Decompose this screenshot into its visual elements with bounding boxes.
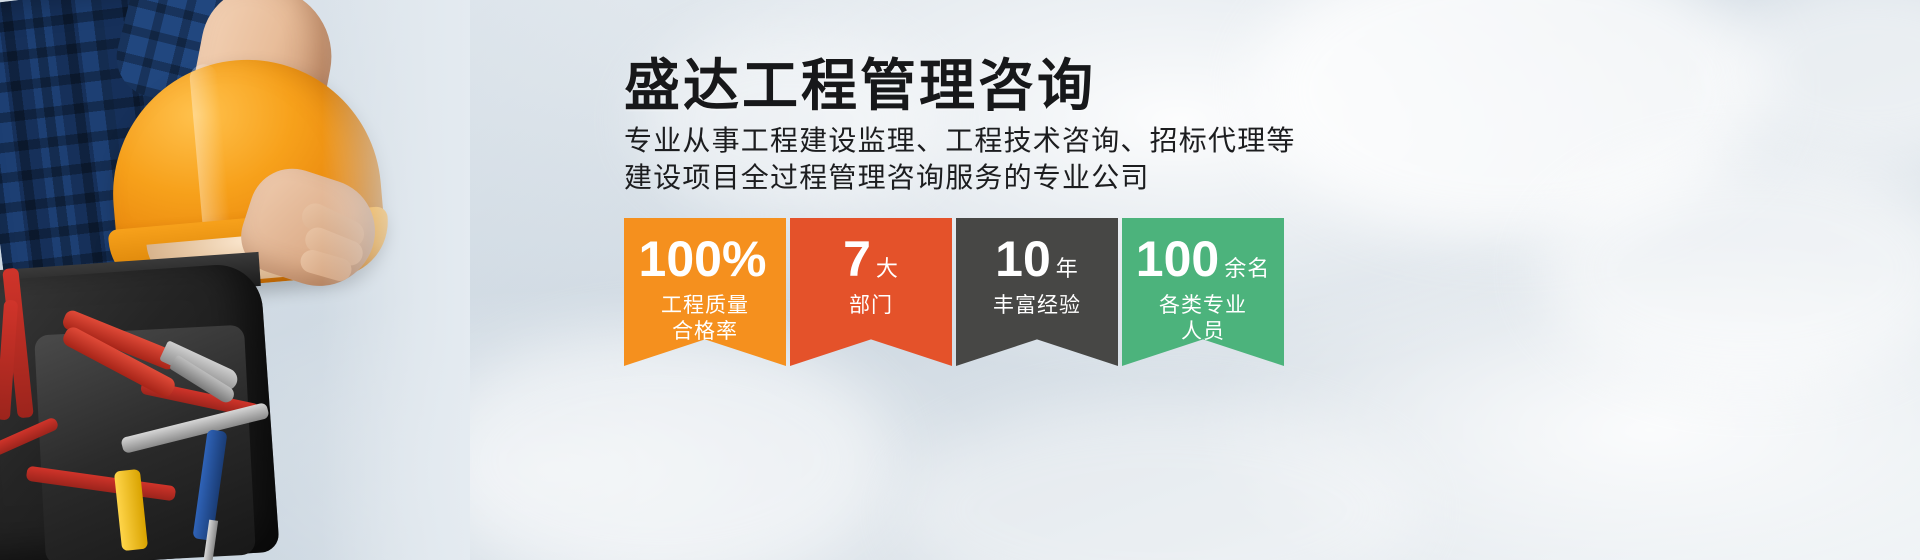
subtitle-line-1: 专业从事工程建设监理、工程技术咨询、招标代理等 xyxy=(624,122,1444,159)
stat-value-wrap: 7 大 xyxy=(843,234,899,284)
worker-photo xyxy=(0,0,470,560)
stat-caption: 各类专业 人员 xyxy=(1159,293,1247,344)
stat-caption-line-1: 部门 xyxy=(849,293,893,319)
stat-caption-line-2: 合格率 xyxy=(661,319,749,345)
stat-value-wrap: 10 年 xyxy=(995,234,1079,284)
stat-value-wrap: 100 余名 xyxy=(1136,234,1270,284)
stat-badge-staff: 100 余名 各类专业 人员 xyxy=(1122,218,1284,366)
stat-value: 7 xyxy=(843,234,871,284)
page-title: 盛达工程管理咨询 xyxy=(624,58,1444,114)
hero-banner: 盛达工程管理咨询 专业从事工程建设监理、工程技术咨询、招标代理等 建设项目全过程… xyxy=(0,0,1920,560)
stat-unit: 年 xyxy=(1056,258,1079,280)
photo-edge-fade xyxy=(322,0,470,560)
stat-badge-departments: 7 大 部门 xyxy=(790,218,952,366)
headline-block: 盛达工程管理咨询 专业从事工程建设监理、工程技术咨询、招标代理等 建设项目全过程… xyxy=(624,58,1444,196)
stat-badge-row: 100% 工程质量 合格率 7 大 部门 10 年 xyxy=(624,218,1284,366)
subtitle-line-2: 建设项目全过程管理咨询服务的专业公司 xyxy=(624,159,1444,196)
stat-caption-line-2: 人员 xyxy=(1159,319,1247,345)
stat-caption: 丰富经验 xyxy=(993,293,1081,319)
stat-value: 100% xyxy=(639,234,767,284)
stat-value-wrap: 100% xyxy=(639,234,772,284)
stat-caption-line-1: 丰富经验 xyxy=(993,293,1081,319)
stat-unit: 大 xyxy=(876,258,899,280)
stat-value: 100 xyxy=(1136,234,1219,284)
stat-caption: 部门 xyxy=(849,293,893,319)
stat-caption: 工程质量 合格率 xyxy=(661,293,749,344)
stat-unit: 余名 xyxy=(1224,258,1270,280)
stat-caption-line-1: 工程质量 xyxy=(661,293,749,319)
stat-value: 10 xyxy=(995,234,1051,284)
stat-badge-quality: 100% 工程质量 合格率 xyxy=(624,218,786,366)
stat-caption-line-1: 各类专业 xyxy=(1159,293,1247,319)
stat-badge-experience: 10 年 丰富经验 xyxy=(956,218,1118,366)
